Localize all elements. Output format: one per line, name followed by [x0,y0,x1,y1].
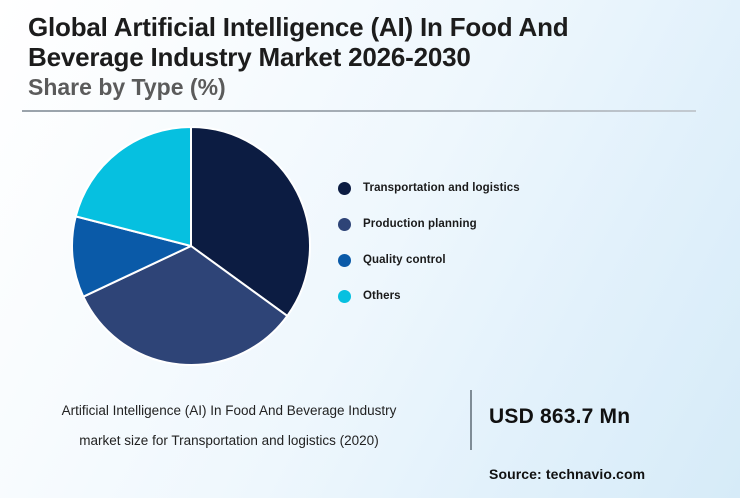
pie-chart-svg [60,118,322,376]
footer-source: Source: technavio.com [489,466,645,482]
page-subtitle: Share by Type (%) [28,72,688,102]
title-area: Global Artificial Intelligence (AI) In F… [28,12,700,104]
footer-caption-line-2: market size for Transportation and logis… [0,426,458,456]
legend-swatch-icon [338,254,351,267]
page-title: Global Artificial Intelligence (AI) In F… [28,12,688,72]
legend-item-transportation-and-logistics: Transportation and logistics [338,170,638,206]
legend-item-production-planning: Production planning [338,206,638,242]
legend-item-label: Transportation and logistics [363,182,520,194]
legend-item-others: Others [338,278,638,314]
footer-market-value: USD 863.7 Mn [489,405,630,429]
footer-vertical-divider [470,390,472,450]
legend-swatch-icon [338,290,351,303]
legend-swatch-icon [338,218,351,231]
legend-item-label: Others [363,290,401,302]
legend-swatch-icon [338,182,351,195]
title-divider [22,110,696,112]
legend-item-label: Quality control [363,254,446,266]
chart-legend: Transportation and logistics Production … [338,170,638,314]
footer-divider [0,381,740,382]
pie-chart [60,118,322,376]
legend-item-label: Production planning [363,218,477,230]
pie-slice-group [72,127,310,365]
infographic-root: Global Artificial Intelligence (AI) In F… [0,0,740,498]
legend-item-quality-control: Quality control [338,242,638,278]
footer-caption-line-1: Artificial Intelligence (AI) In Food And… [0,396,458,426]
footer-caption: Artificial Intelligence (AI) In Food And… [0,396,458,456]
